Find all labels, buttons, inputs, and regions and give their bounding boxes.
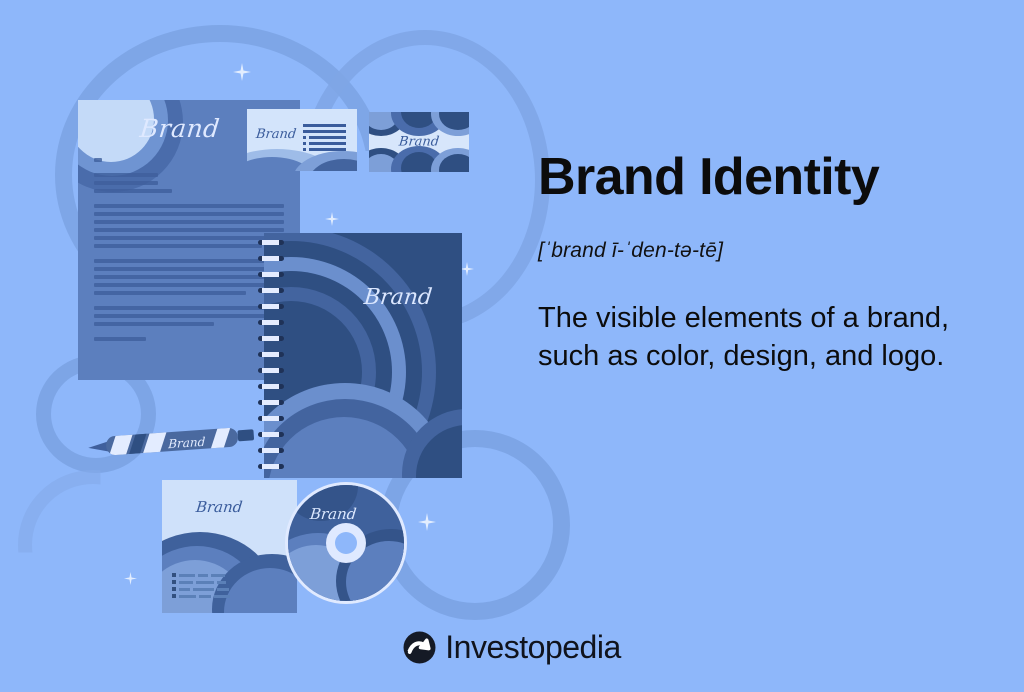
letterhead-text-lines — [94, 158, 284, 352]
cd-sleeve-wordmark: Brand — [195, 498, 243, 516]
sparkle-icon — [233, 63, 251, 81]
text-column: Brand Identity [ˈbrand ī-ˈden-tə-tē] The… — [538, 150, 988, 375]
pen-stripe — [141, 428, 167, 455]
business-card-front-wave — [247, 147, 357, 171]
definition-text: The visible elements of a brand, such as… — [538, 299, 968, 376]
pen-wordmark: Brand — [168, 435, 206, 452]
sparkle-icon — [325, 212, 339, 226]
spiral-notebook-mockup: Brand — [264, 233, 462, 478]
notebook-wordmark: Brand — [363, 285, 434, 310]
business-card-back-mockup: Brand — [369, 112, 469, 172]
investopedia-logo-icon — [403, 631, 436, 664]
pronunciation-text: [ˈbrand ī-ˈden-tə-tē] — [538, 239, 988, 263]
cd-disc-wordmark: Brand — [309, 505, 357, 523]
pen-mockup: Brand — [87, 422, 256, 460]
footer-branding: Investopedia — [0, 629, 1024, 666]
cd-sleeve-mockup: Brand — [162, 480, 297, 613]
letterhead-wordmark: Brand — [138, 114, 221, 143]
business-card-back-wordmark: Brand — [398, 135, 440, 150]
business-card-front-mockup: Brand — [247, 109, 357, 171]
cd-disc-mockup: Brand — [285, 482, 407, 604]
sparkle-icon — [418, 513, 436, 531]
pen-clip — [237, 429, 254, 441]
investopedia-wordmark: Investopedia — [445, 629, 620, 666]
sparkle-icon — [460, 262, 474, 276]
infographic-card: Brand — [0, 0, 1024, 692]
pen-stripe — [209, 427, 231, 453]
page-title: Brand Identity — [538, 150, 988, 205]
cd-disc-hole — [335, 532, 357, 554]
cd-sleeve-track-list — [172, 573, 230, 601]
pen-body: Brand — [106, 427, 239, 455]
notebook-spiral-binding — [258, 238, 284, 476]
decorative-ring-bottom-left — [18, 470, 168, 620]
sparkle-icon — [124, 572, 137, 585]
business-card-front-wordmark: Brand — [255, 127, 297, 142]
